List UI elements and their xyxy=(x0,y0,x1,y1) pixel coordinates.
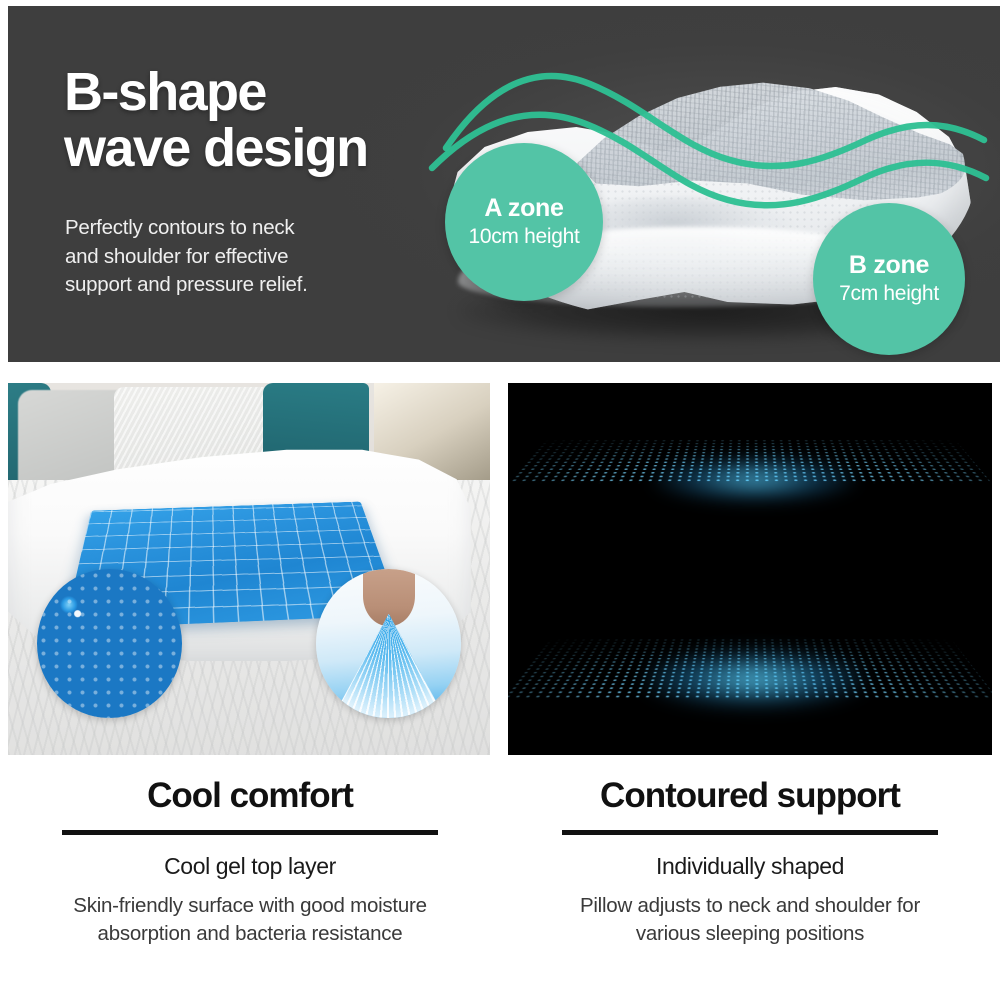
headline-line-2: wave design xyxy=(64,120,444,176)
caption-divider xyxy=(562,830,938,835)
dot-matrix-bottom xyxy=(508,639,992,699)
subcopy-line-2: and shoulder for effective xyxy=(65,243,395,272)
gel-beads-inset xyxy=(37,569,182,718)
header-banner: B-shape wave design Perfectly contours t… xyxy=(8,6,1000,362)
caption-body-line-1: Skin-friendly surface with good moisture xyxy=(73,892,426,920)
caption-body-line-2: absorption and bacteria resistance xyxy=(73,920,426,948)
caption-row: Cool comfort Cool gel top layer Skin-fri… xyxy=(0,775,1000,1000)
caption-subtitle: Individually shaped xyxy=(656,851,844,881)
caption-title: Contoured support xyxy=(600,775,900,817)
caption-body: Skin-friendly surface with good moisture… xyxy=(73,892,426,948)
subcopy-line-3: support and pressure relief. xyxy=(65,271,395,300)
caption-body: Pillow adjusts to neck and shoulder for … xyxy=(580,892,920,948)
subcopy-line-1: Perfectly contours to neck xyxy=(65,214,395,243)
caption-contoured-support: Contoured support Individually shaped Pi… xyxy=(500,775,1000,1000)
gel-pinch-inset xyxy=(316,569,461,718)
caption-subtitle: Cool gel top layer xyxy=(164,851,336,881)
gel-pillow-photo xyxy=(8,383,490,755)
caption-divider xyxy=(62,830,438,835)
zone-badge-b: B zone 7cm height xyxy=(813,203,965,355)
zone-a-subtitle: 10cm height xyxy=(468,224,579,250)
pressure-map-photo xyxy=(508,383,992,755)
photo-row xyxy=(8,383,992,755)
dot-matrix-top xyxy=(508,439,992,483)
page-headline: B-shape wave design xyxy=(64,64,444,176)
zone-badge-a: A zone 10cm height xyxy=(445,143,603,301)
caption-title: Cool comfort xyxy=(147,775,353,817)
header-subcopy: Perfectly contours to neck and shoulder … xyxy=(65,214,395,300)
zone-a-title: A zone xyxy=(484,194,563,223)
caption-cool-comfort: Cool comfort Cool gel top layer Skin-fri… xyxy=(0,775,500,1000)
zone-b-subtitle: 7cm height xyxy=(839,281,939,307)
zone-b-title: B zone xyxy=(849,251,929,280)
caption-body-line-2: various sleeping positions xyxy=(580,920,920,948)
headline-line-1: B-shape xyxy=(64,62,266,122)
caption-body-line-1: Pillow adjusts to neck and shoulder for xyxy=(580,892,920,920)
